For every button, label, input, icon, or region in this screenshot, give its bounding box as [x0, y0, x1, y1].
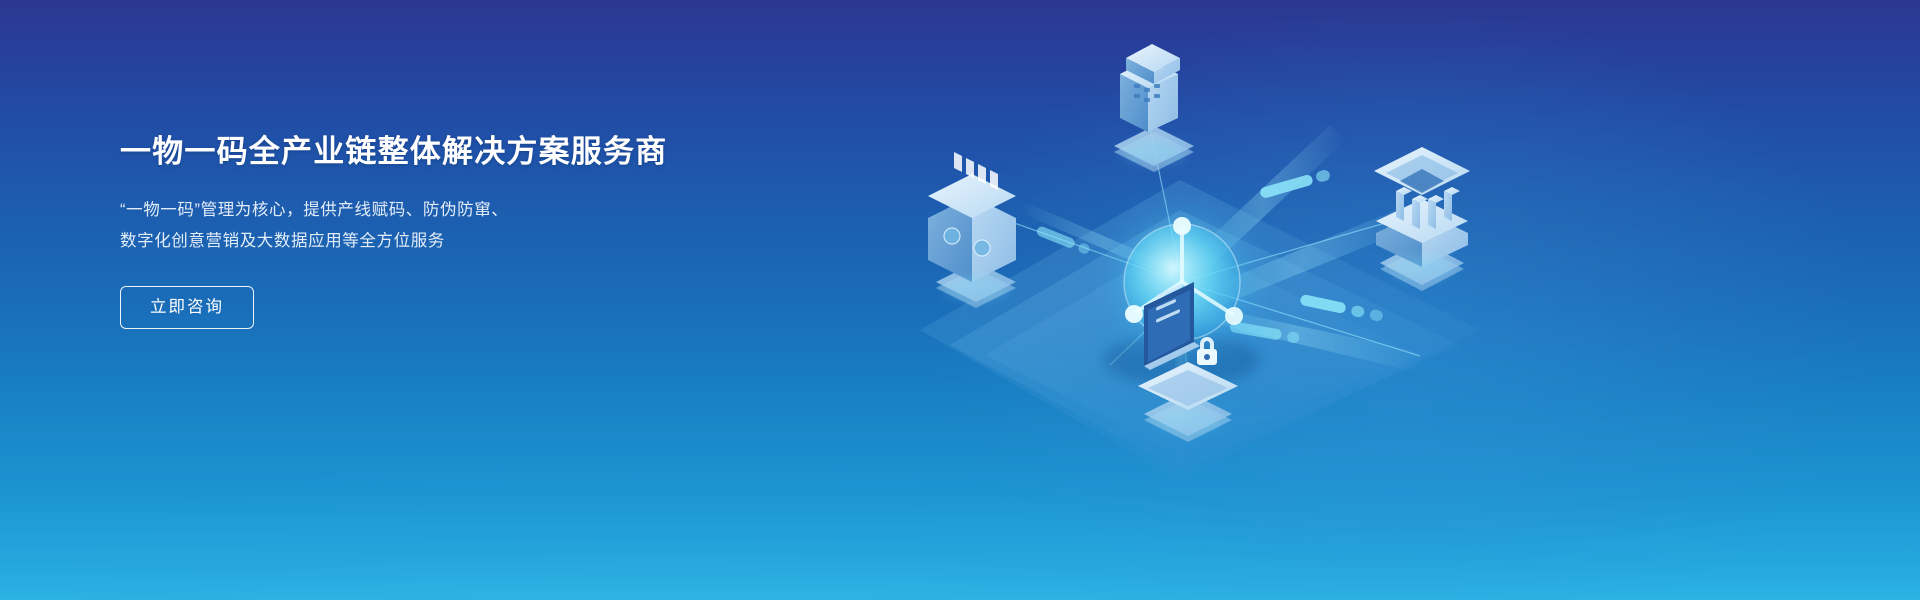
- consult-now-button[interactable]: 立即咨询: [120, 286, 254, 329]
- cta-wrapper: 立即咨询: [120, 286, 840, 329]
- hero-subcopy: “一物一码”管理为核心，提供产线赋码、防伪防窜、 数字化创意营销及大数据应用等全…: [120, 195, 840, 257]
- hero-banner: 一物一码全产业链整体解决方案服务商 “一物一码”管理为核心，提供产线赋码、防伪防…: [0, 0, 1920, 600]
- hero-illustration: [860, 0, 1580, 600]
- subcopy-line-1: “一物一码”管理为核心，提供产线赋码、防伪防窜、: [120, 195, 840, 226]
- subcopy-line-2: 数字化创意营销及大数据应用等全方位服务: [120, 226, 840, 257]
- hero-content: 一物一码全产业链整体解决方案服务商 “一物一码”管理为核心，提供产线赋码、防伪防…: [120, 133, 840, 329]
- page-title: 一物一码全产业链整体解决方案服务商: [120, 133, 840, 170]
